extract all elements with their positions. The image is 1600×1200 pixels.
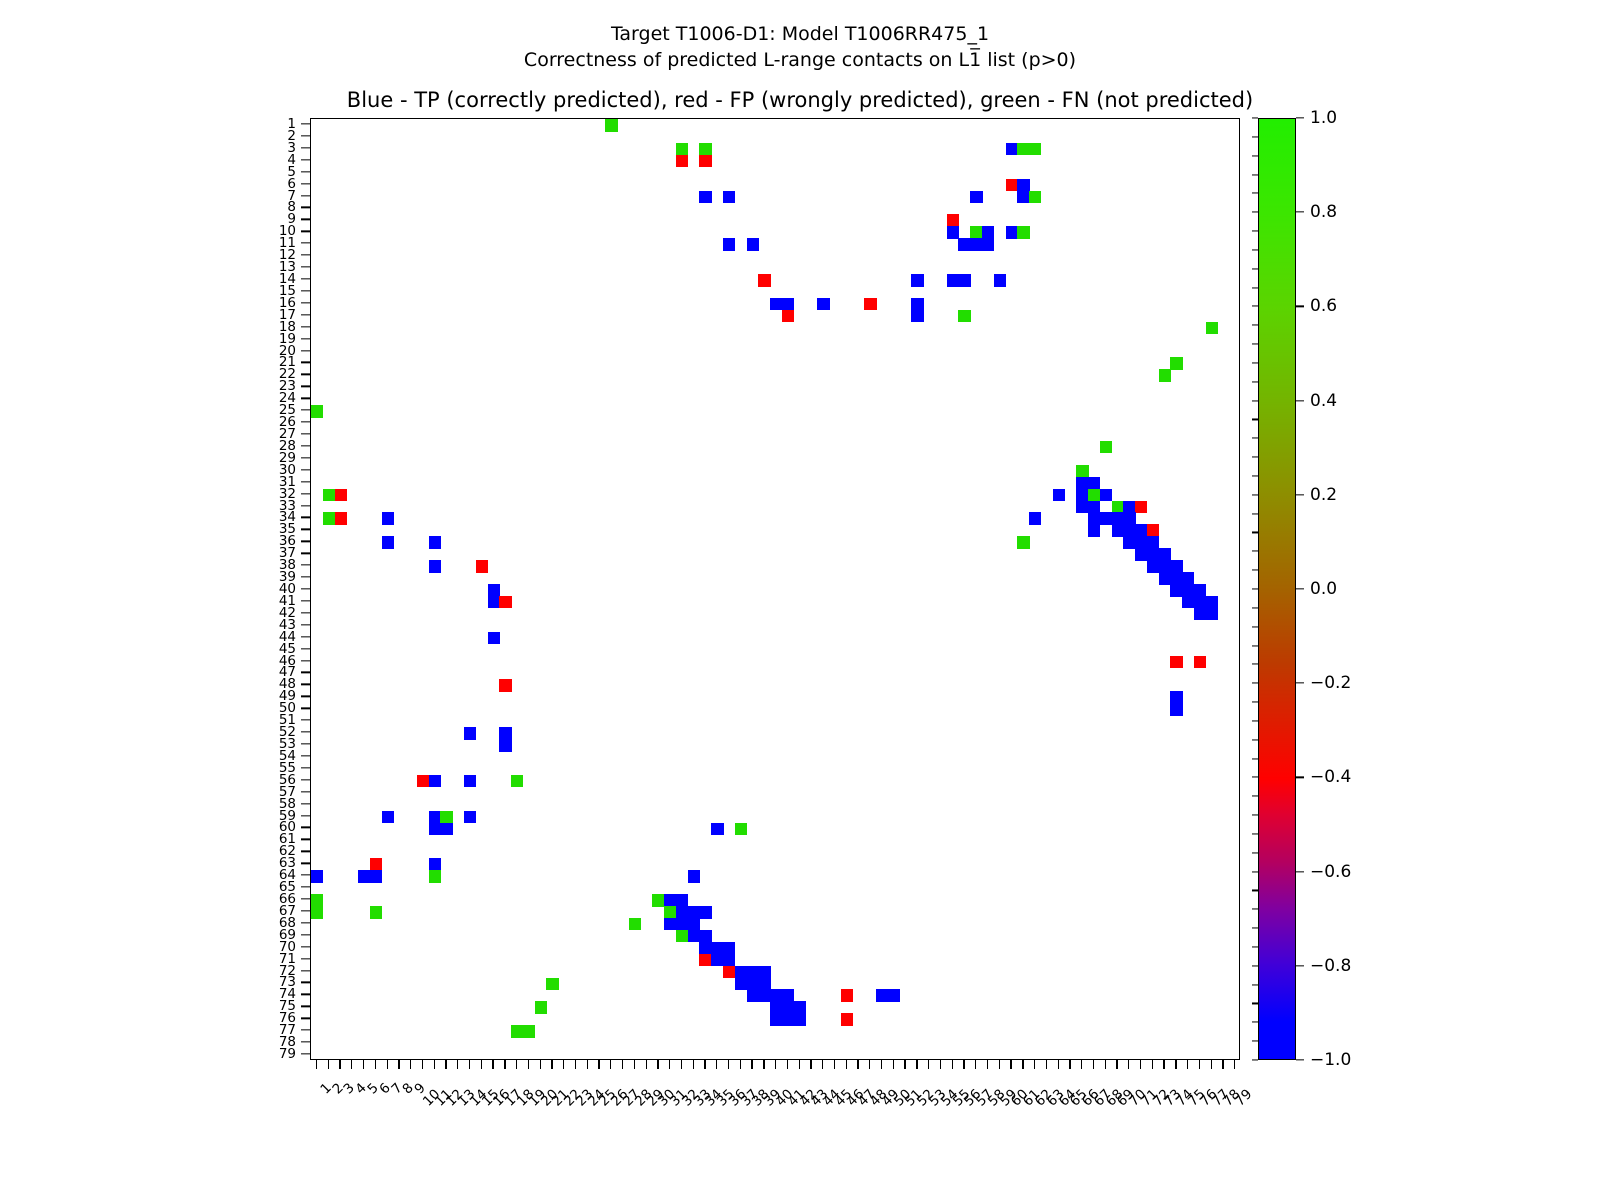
x-tick-mark: [634, 1060, 635, 1069]
heatmap-cell: [817, 298, 829, 311]
heatmap-cell: [370, 870, 382, 883]
colorbar-minor-tick: [1252, 136, 1258, 137]
heatmap-cell: [982, 226, 994, 239]
y-tick-mark: [301, 421, 310, 422]
y-tick-mark: [301, 958, 310, 959]
y-tick-mark: [301, 564, 310, 565]
colorbar-minor-tick: [1252, 193, 1258, 194]
heatmap-cell: [1135, 548, 1147, 561]
x-tick-mark: [1069, 1060, 1070, 1069]
x-tick-mark: [657, 1060, 658, 1069]
colorbar-tick-label: 1.0: [1310, 108, 1337, 128]
heatmap-cell: [1112, 524, 1124, 537]
colorbar-tick-mark: [1296, 494, 1304, 495]
colorbar-minor-tick: [1252, 833, 1258, 834]
heatmap-cell: [311, 870, 323, 883]
y-tick-mark: [301, 1053, 310, 1054]
heatmap-cell: [1170, 584, 1182, 597]
y-tick-mark: [301, 636, 310, 637]
y-tick-mark: [301, 588, 310, 589]
heatmap-cell: [1017, 143, 1029, 156]
colorbar-minor-tick: [1252, 532, 1258, 533]
heatmap-cells: [311, 119, 1239, 1059]
y-tick-mark: [301, 731, 310, 732]
heatmap-cell: [311, 894, 323, 907]
colorbar-minor-tick: [1252, 645, 1258, 646]
heatmap-cell: [1206, 322, 1218, 335]
x-tick-mark: [963, 1060, 964, 1069]
heatmap-cell: [429, 858, 441, 871]
heatmap-cell: [1170, 656, 1182, 669]
heatmap-cell: [676, 930, 688, 943]
heatmap-cell: [429, 811, 441, 824]
heatmap-cell: [429, 823, 441, 836]
x-tick-mark: [316, 1060, 317, 1069]
x-tick-mark: [1211, 1060, 1212, 1069]
colorbar-minor-tick: [1252, 155, 1258, 156]
y-tick-mark: [301, 338, 310, 339]
x-tick-mark: [1046, 1060, 1047, 1069]
heatmap-cell: [1182, 584, 1194, 597]
heatmap-cell: [1017, 226, 1029, 239]
y-tick-mark: [301, 529, 310, 530]
colorbar-tick-mark: [1296, 965, 1304, 966]
colorbar-minor-tick: [1252, 212, 1258, 213]
colorbar-minor-tick: [1252, 1059, 1258, 1060]
heatmap-cell: [947, 274, 959, 287]
heatmap-cell: [464, 811, 476, 824]
heatmap-cell: [735, 966, 747, 979]
y-tick-mark: [301, 457, 310, 458]
heatmap-cell: [1029, 191, 1041, 204]
y-tick-mark: [301, 600, 310, 601]
heatmap-cell: [1006, 179, 1018, 192]
colorbar-tick-mark: [1296, 683, 1304, 684]
colorbar-minor-tick: [1252, 1003, 1258, 1004]
colorbar-tick-label: −1.0: [1310, 1050, 1351, 1070]
x-tick-mark: [928, 1060, 929, 1069]
heatmap-cell: [970, 191, 982, 204]
heatmap-cell: [440, 823, 452, 836]
heatmap-cell: [499, 739, 511, 752]
heatmap-cell: [688, 918, 700, 931]
heatmap-cell: [1135, 524, 1147, 537]
y-tick-mark: [301, 278, 310, 279]
y-tick-mark: [301, 767, 310, 768]
colorbar-tick-mark: [1296, 777, 1304, 778]
colorbar-tick-label: −0.8: [1310, 956, 1351, 976]
colorbar-minor-tick: [1252, 871, 1258, 872]
y-tick-mark: [301, 171, 310, 172]
x-tick-mark: [587, 1060, 588, 1069]
x-tick-mark: [328, 1060, 329, 1069]
x-tick-mark: [999, 1060, 1000, 1069]
x-tick-mark: [422, 1060, 423, 1069]
heatmap-cell: [688, 870, 700, 883]
x-tick-mark: [375, 1060, 376, 1069]
colorbar-minor-tick: [1252, 419, 1258, 420]
heatmap-cell: [699, 906, 711, 919]
x-tick-mark: [775, 1060, 776, 1069]
heatmap-cell: [1159, 548, 1171, 561]
y-tick-mark: [301, 326, 310, 327]
x-tick-mark: [787, 1060, 788, 1069]
heatmap-cell: [1170, 572, 1182, 585]
x-tick-mark: [693, 1060, 694, 1069]
heatmap-cell: [770, 1001, 782, 1014]
y-tick-mark: [301, 183, 310, 184]
heatmap-cell: [911, 310, 923, 323]
heatmap-cell: [382, 512, 394, 525]
heatmap-cell: [546, 978, 558, 991]
x-tick-mark: [681, 1060, 682, 1069]
heatmap-cell: [1029, 512, 1041, 525]
y-tick-mark: [301, 910, 310, 911]
colorbar-minor-tick: [1252, 268, 1258, 269]
x-tick-mark: [610, 1060, 611, 1069]
heatmap-cell: [499, 727, 511, 740]
y-tick-mark: [301, 982, 310, 983]
y-tick-mark: [301, 493, 310, 494]
title-line-1: Target T1006-D1: Model T1006RR475_1: [0, 22, 1600, 48]
heatmap-cell: [747, 978, 759, 991]
y-tick-mark: [301, 970, 310, 971]
y-tick-mark: [301, 708, 310, 709]
heatmap-cell: [723, 966, 735, 979]
heatmap-cell: [1159, 572, 1171, 585]
heatmap-cell: [782, 1013, 794, 1026]
heatmap-cell: [1076, 501, 1088, 514]
heatmap-cell: [676, 906, 688, 919]
heatmap-cell: [723, 942, 735, 955]
colorbar-minor-tick: [1252, 739, 1258, 740]
colorbar-minor-tick: [1252, 720, 1258, 721]
heatmap-cell: [782, 1001, 794, 1014]
y-tick-mark: [301, 505, 310, 506]
colorbar-minor-tick: [1252, 928, 1258, 929]
heatmap-cell: [1017, 536, 1029, 549]
y-tick-mark: [301, 660, 310, 661]
colorbar-minor-tick: [1252, 1041, 1258, 1042]
colorbar-minor-tick: [1252, 758, 1258, 759]
heatmap-cell: [358, 870, 370, 883]
x-tick-mark: [410, 1060, 411, 1069]
y-axis: 1234567891011121314151617181920212223242…: [0, 118, 310, 1060]
x-tick-mark: [975, 1060, 976, 1069]
y-tick-mark: [301, 839, 310, 840]
heatmap-cell: [711, 954, 723, 967]
x-tick-mark: [398, 1060, 399, 1069]
y-tick-mark: [301, 648, 310, 649]
heatmap-cell: [1088, 477, 1100, 490]
heatmap-cell: [335, 512, 347, 525]
heatmap-cell: [864, 298, 876, 311]
y-tick-mark: [301, 219, 310, 220]
x-axis: 1234567891011121314151617181920212223242…: [310, 1060, 1240, 1200]
heatmap-cell: [1017, 191, 1029, 204]
y-tick-mark: [301, 612, 310, 613]
heatmap-cell: [1206, 608, 1218, 621]
heatmap-cell: [876, 989, 888, 1002]
y-tick-mark: [301, 684, 310, 685]
heatmap-cell: [488, 632, 500, 645]
colorbar-tick-mark: [1296, 1059, 1304, 1060]
heatmap-cell: [429, 560, 441, 573]
heatmap-cell: [1147, 536, 1159, 549]
colorbar-minor-tick: [1252, 475, 1258, 476]
x-tick-mark: [528, 1060, 529, 1069]
colorbar-minor-tick: [1252, 626, 1258, 627]
heatmap-cell: [1123, 536, 1135, 549]
colorbar-minor-tick: [1252, 400, 1258, 401]
heatmap-cell: [1017, 179, 1029, 192]
heatmap-cell: [782, 298, 794, 311]
x-tick-mark: [504, 1060, 505, 1069]
heatmap-cell: [841, 1013, 853, 1026]
x-tick-mark: [881, 1060, 882, 1069]
heatmap-cell: [888, 989, 900, 1002]
y-tick-mark: [301, 207, 310, 208]
heatmap-cell: [464, 775, 476, 788]
heatmap-cell: [699, 155, 711, 168]
colorbar-minor-tick: [1252, 796, 1258, 797]
x-tick-mark: [434, 1060, 435, 1069]
heatmap-cell: [770, 298, 782, 311]
heatmap-cell: [382, 536, 394, 549]
heatmap-cell: [711, 942, 723, 955]
x-tick-mark: [728, 1060, 729, 1069]
colorbar-minor-tick: [1252, 457, 1258, 458]
heatmap-cell: [311, 405, 323, 418]
colorbar-minor-tick: [1252, 664, 1258, 665]
heatmap-cell: [652, 894, 664, 907]
heatmap-cell: [1170, 560, 1182, 573]
heatmap-cell: [794, 1013, 806, 1026]
heatmap-cell: [911, 274, 923, 287]
colorbar-minor-tick: [1252, 777, 1258, 778]
heatmap-cell: [1123, 512, 1135, 525]
heatmap-cell: [758, 989, 770, 1002]
colorbar-minor-tick: [1252, 570, 1258, 571]
heatmap-cell: [488, 584, 500, 597]
colorbar-minor-tick: [1252, 946, 1258, 947]
heatmap-cell: [747, 989, 759, 1002]
y-tick-mark: [301, 994, 310, 995]
y-tick-mark: [301, 815, 310, 816]
heatmap-cell: [794, 1001, 806, 1014]
heatmap-cell: [958, 274, 970, 287]
heatmap-cell: [958, 310, 970, 323]
y-tick-mark: [301, 541, 310, 542]
heatmap-cell: [1076, 477, 1088, 490]
y-tick-mark: [301, 779, 310, 780]
colorbar-minor-tick: [1252, 890, 1258, 891]
colorbar-minor-tick: [1252, 815, 1258, 816]
heatmap-cell: [664, 918, 676, 931]
heatmap-cell: [488, 596, 500, 609]
colorbar-minor-tick: [1252, 683, 1258, 684]
heatmap-cell: [1135, 501, 1147, 514]
heatmap-cell: [429, 536, 441, 549]
y-tick-mark: [301, 827, 310, 828]
x-tick-mark: [822, 1060, 823, 1069]
x-tick-mark: [516, 1060, 517, 1069]
heatmap-cell: [711, 823, 723, 836]
x-tick-mark: [1081, 1060, 1082, 1069]
x-tick-mark: [1034, 1060, 1035, 1069]
x-tick-mark: [646, 1060, 647, 1069]
x-tick-mark: [387, 1060, 388, 1069]
heatmap-cell: [911, 298, 923, 311]
heatmap-cell: [499, 596, 511, 609]
heatmap-cell: [723, 191, 735, 204]
heatmap-cell: [1147, 560, 1159, 573]
colorbar-tick-label: 0.8: [1310, 202, 1337, 222]
x-tick-mark: [1199, 1060, 1200, 1069]
heatmap-cell: [1088, 501, 1100, 514]
heatmap-cell: [1088, 489, 1100, 502]
x-tick-mark: [1152, 1060, 1153, 1069]
chart-title: Target T1006-D1: Model T1006RR475_1 Corr…: [0, 22, 1600, 73]
heatmap-cell: [1112, 512, 1124, 525]
heatmap-cell: [947, 226, 959, 239]
heatmap-cell: [664, 894, 676, 907]
heatmap-cell: [735, 823, 747, 836]
x-tick-mark: [940, 1060, 941, 1069]
y-tick-mark: [301, 302, 310, 303]
colorbar-tick-mark: [1296, 588, 1304, 589]
heatmap-cell: [429, 870, 441, 883]
colorbar-minor-tick: [1252, 909, 1258, 910]
heatmap-cell: [699, 191, 711, 204]
colorbar-minor-tick: [1252, 965, 1258, 966]
colorbar-gradient: [1258, 118, 1296, 1060]
colorbar-tick-label: 0.0: [1310, 579, 1337, 599]
heatmap-cell: [664, 906, 676, 919]
x-tick-mark: [1116, 1060, 1117, 1069]
heatmap-cell: [1123, 501, 1135, 514]
y-tick-mark: [301, 934, 310, 935]
y-tick-mark: [301, 314, 310, 315]
y-tick-mark: [301, 553, 310, 554]
heatmap-cell: [1170, 691, 1182, 704]
heatmap-cell: [699, 143, 711, 156]
y-tick-mark: [301, 159, 310, 160]
colorbar-tick-label: 0.6: [1310, 296, 1337, 316]
heatmap-cell: [970, 226, 982, 239]
x-tick-mark: [952, 1060, 953, 1069]
heatmap-cell: [723, 238, 735, 251]
y-tick-mark: [301, 946, 310, 947]
x-tick-mark: [575, 1060, 576, 1069]
heatmap-cell: [1159, 560, 1171, 573]
y-tick-mark: [301, 1030, 310, 1031]
x-tick-mark: [563, 1060, 564, 1069]
colorbar-minor-tick: [1252, 117, 1258, 118]
heatmap-cell: [782, 989, 794, 1002]
heatmap-cell: [970, 238, 982, 251]
heatmap-cell: [1170, 357, 1182, 370]
y-tick-mark: [301, 374, 310, 375]
x-tick-mark: [751, 1060, 752, 1069]
y-tick-mark: [301, 743, 310, 744]
y-tick-mark: [301, 576, 310, 577]
y-tick-mark: [301, 791, 310, 792]
heatmap-cell: [382, 811, 394, 824]
y-tick-mark: [301, 123, 310, 124]
heatmap-cell: [1076, 465, 1088, 478]
colorbar-minor-tick: [1252, 701, 1258, 702]
colorbar-minor-tick: [1252, 306, 1258, 307]
heatmap-cell: [523, 1025, 535, 1038]
colorbar-minor-tick: [1252, 494, 1258, 495]
colorbar-minor-tick: [1252, 852, 1258, 853]
x-tick-mark: [763, 1060, 764, 1069]
heatmap-cell: [1194, 584, 1206, 597]
colorbar-minor-tick: [1252, 588, 1258, 589]
colorbar-tick-mark: [1296, 400, 1304, 401]
y-tick-mark: [301, 409, 310, 410]
heatmap-cell: [1194, 656, 1206, 669]
heatmap-cell: [499, 679, 511, 692]
y-tick-mark: [301, 672, 310, 673]
heatmap-cell: [770, 989, 782, 1002]
x-tick-mark: [339, 1060, 340, 1069]
heatmap-cell: [1123, 524, 1135, 537]
colorbar-tick-mark: [1296, 871, 1304, 872]
x-tick-mark: [445, 1060, 446, 1069]
colorbar-tick-mark: [1296, 212, 1304, 213]
y-tick-mark: [301, 1018, 310, 1019]
heatmap-cell: [735, 978, 747, 991]
x-tick-mark: [857, 1060, 858, 1069]
y-tick-mark: [301, 386, 310, 387]
x-tick-mark: [1105, 1060, 1106, 1069]
heatmap-cell: [947, 214, 959, 227]
heatmap-cell: [841, 989, 853, 1002]
colorbar-tick-mark: [1296, 306, 1304, 307]
x-tick-mark: [457, 1060, 458, 1069]
x-tick-mark: [1222, 1060, 1223, 1069]
heatmap-cell: [676, 918, 688, 931]
x-tick-mark: [1010, 1060, 1011, 1069]
colorbar-minor-tick: [1252, 344, 1258, 345]
y-tick-mark: [301, 481, 310, 482]
heatmap-cell: [699, 942, 711, 955]
y-tick-mark: [301, 231, 310, 232]
x-tick-mark: [622, 1060, 623, 1069]
heatmap-cell: [758, 966, 770, 979]
heatmap-cell: [676, 143, 688, 156]
y-tick-mark: [301, 624, 310, 625]
x-tick-mark: [846, 1060, 847, 1069]
contact-map-plot[interactable]: [310, 118, 1240, 1060]
y-tick-mark: [301, 898, 310, 899]
heatmap-cell: [464, 727, 476, 740]
y-tick-mark: [301, 266, 310, 267]
title-line-2: Correctness of predicted L-range contact…: [0, 48, 1600, 74]
heatmap-cell: [629, 918, 641, 931]
x-tick-mark: [716, 1060, 717, 1069]
x-tick-mark: [987, 1060, 988, 1069]
colorbar-minor-tick: [1252, 551, 1258, 552]
x-tick-mark: [669, 1060, 670, 1069]
colorbar-minor-tick: [1252, 607, 1258, 608]
heatmap-cell: [747, 966, 759, 979]
heatmap-cell: [1053, 489, 1065, 502]
heatmap-cell: [688, 906, 700, 919]
x-tick-mark: [799, 1060, 800, 1069]
